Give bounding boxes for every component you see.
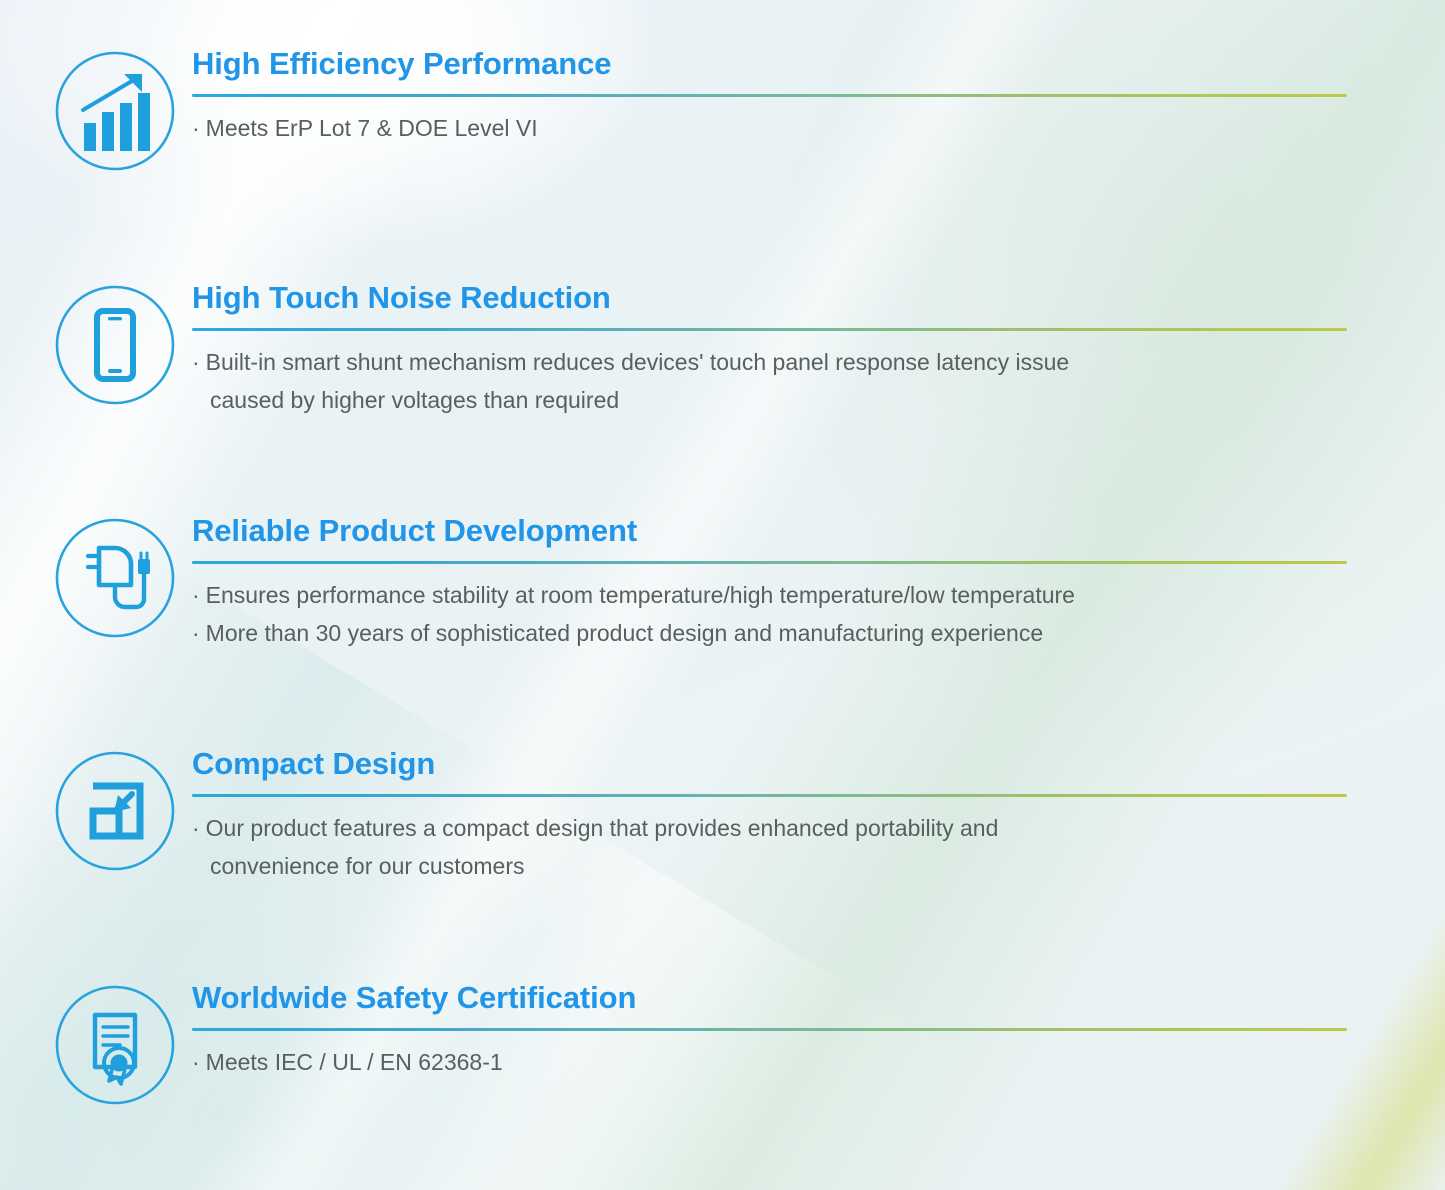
bullet-text: Our product features a compact design th…: [206, 815, 999, 841]
feature-body: High Efficiency Performance ·Meets ErP L…: [192, 48, 1392, 148]
bullet-marker: ·: [192, 1049, 200, 1075]
compact-resize-icon: [52, 748, 178, 874]
feature-item-compact-design: Compact Design ·Our product features a c…: [52, 748, 1392, 885]
power-adapter-icon: [52, 515, 178, 641]
feature-item-high-efficiency-performance: High Efficiency Performance ·Meets ErP L…: [52, 48, 1392, 174]
feature-divider: [192, 328, 1347, 331]
feature-title: Worldwide Safety Certification: [192, 982, 1392, 1015]
feature-bullet: ·Ensures performance stability at room t…: [192, 577, 1392, 615]
smartphone-icon: [52, 282, 178, 408]
bullet-text-continued: convenience for our customers: [192, 848, 1392, 886]
feature-item-worldwide-safety-certification: Worldwide Safety Certification ·Meets IE…: [52, 982, 1392, 1108]
certificate-award-icon: [52, 982, 178, 1108]
feature-divider: [192, 794, 1347, 797]
bullet-text: Meets ErP Lot 7 & DOE Level VI: [206, 115, 538, 141]
bullet-text: More than 30 years of sophisticated prod…: [206, 620, 1043, 646]
bullet-marker: ·: [192, 115, 200, 141]
feature-bullet: ·More than 30 years of sophisticated pro…: [192, 615, 1392, 653]
feature-bullet: ·Built-in smart shunt mechanism reduces …: [192, 344, 1392, 419]
feature-bullet: ·Our product features a compact design t…: [192, 810, 1392, 885]
bar-chart-growth-icon: [52, 48, 178, 174]
feature-divider: [192, 561, 1347, 564]
feature-title: High Efficiency Performance: [192, 48, 1392, 81]
feature-body: Reliable Product Development ·Ensures pe…: [192, 515, 1392, 652]
feature-body: Worldwide Safety Certification ·Meets IE…: [192, 982, 1392, 1082]
feature-highlights-page: High Efficiency Performance ·Meets ErP L…: [0, 0, 1445, 1190]
bullet-text-continued: caused by higher voltages than required: [192, 382, 1392, 420]
feature-body: High Touch Noise Reduction ·Built-in sma…: [192, 282, 1392, 419]
bullet-text: Meets IEC / UL / EN 62368-1: [206, 1049, 503, 1075]
feature-title: Reliable Product Development: [192, 515, 1392, 548]
bullet-text: Ensures performance stability at room te…: [206, 582, 1075, 608]
bullet-marker: ·: [192, 620, 200, 646]
feature-bullet: ·Meets IEC / UL / EN 62368-1: [192, 1044, 1392, 1082]
feature-title: High Touch Noise Reduction: [192, 282, 1392, 315]
bullet-marker: ·: [192, 815, 200, 841]
feature-item-high-touch-noise-reduction: High Touch Noise Reduction ·Built-in sma…: [52, 282, 1392, 419]
feature-body: Compact Design ·Our product features a c…: [192, 748, 1392, 885]
feature-bullet: ·Meets ErP Lot 7 & DOE Level VI: [192, 110, 1392, 148]
bullet-marker: ·: [192, 349, 200, 375]
feature-divider: [192, 94, 1347, 97]
feature-item-reliable-product-development: Reliable Product Development ·Ensures pe…: [52, 515, 1392, 652]
feature-title: Compact Design: [192, 748, 1392, 781]
feature-divider: [192, 1028, 1347, 1031]
bullet-text: Built-in smart shunt mechanism reduces d…: [206, 349, 1070, 375]
bullet-marker: ·: [192, 582, 200, 608]
